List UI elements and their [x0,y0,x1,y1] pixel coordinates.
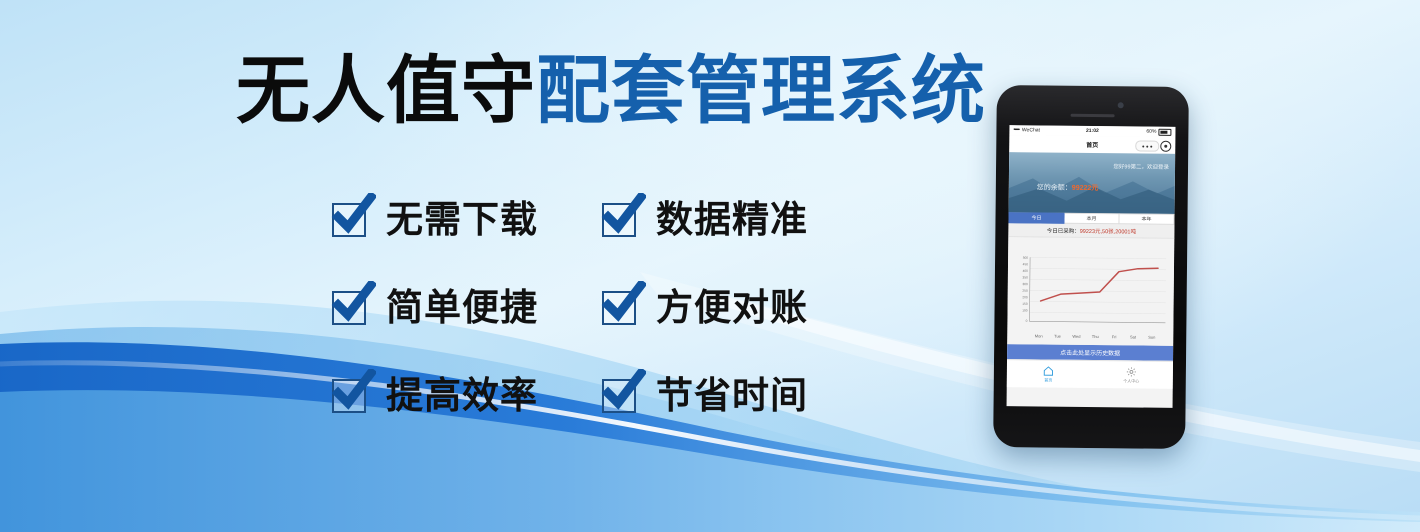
feature-row: 简单便捷 方便对账 [330,264,870,352]
x-tick: Fri [1105,334,1124,339]
welcome-text: 您好99第二，欢迎登录 [1113,162,1169,171]
account-banner: 您好99第二，欢迎登录 您的余额：99222元 [1009,152,1176,214]
x-tick: Mon [1029,333,1048,338]
tabbar-label: 首页 [1044,377,1052,383]
feature-row: 无需下载 数据精准 [330,176,870,264]
svg-text:200: 200 [1022,295,1028,299]
feature-label: 简单便捷 [386,287,538,329]
check-mark-icon [330,287,372,329]
feature-row: 提高效率 节省时间 [330,352,870,440]
bottom-tab-bar: 首页 个人中心 [1007,359,1173,389]
line-chart: 500 450 400 350 300 250 200 150 100 0 [1007,251,1174,335]
feature-item: 方便对账 [600,287,870,329]
svg-text:400: 400 [1023,269,1029,273]
svg-text:300: 300 [1022,282,1028,286]
gear-icon [1126,366,1137,377]
nav-title: 首页 [1086,140,1098,149]
tabbar-label: 个人中心 [1123,378,1139,384]
tab-year[interactable]: 本年 [1119,213,1174,225]
summary-value: 99223元,50张,20001吨 [1080,226,1136,235]
check-mark-icon [600,199,642,241]
signal-icon: ••••• [1013,127,1019,133]
period-tabs: 今日 本月 本年 [1008,212,1174,225]
phone-mockup: ••••• WeChat 21:02 60% 首页 您好99第二，欢迎登录 [993,85,1189,449]
tabbar-item-profile[interactable]: 个人中心 [1090,361,1173,389]
feature-label: 提高效率 [386,375,538,417]
svg-text:100: 100 [1022,308,1028,312]
home-icon [1043,365,1054,376]
battery-percent-label: 60% [1146,129,1156,135]
tab-month[interactable]: 本月 [1064,213,1119,225]
svg-text:250: 250 [1022,289,1028,293]
title-primary: 无人值守 [236,49,536,132]
tab-today[interactable]: 今日 [1008,212,1064,224]
feature-item: 数据精准 [600,199,870,241]
title-accent: 配套管理系统 [536,49,986,132]
feature-label: 数据精准 [656,199,808,241]
more-dots-icon[interactable] [1135,140,1159,151]
earpiece-speaker [1071,114,1115,117]
svg-text:150: 150 [1022,302,1028,306]
feature-item: 简单便捷 [330,287,600,329]
svg-text:350: 350 [1023,275,1029,279]
balance-value: 99222元 [1072,185,1099,192]
x-tick: Tue [1048,334,1067,339]
tabbar-item-home[interactable]: 首页 [1007,360,1090,388]
x-tick: Sun [1142,335,1161,340]
nav-bar: 首页 [1009,135,1175,154]
feature-label: 无需下载 [386,199,538,241]
phone-screen: ••••• WeChat 21:02 60% 首页 您好99第二，欢迎登录 [1007,125,1176,408]
x-tick: Wed [1067,334,1086,339]
feature-label: 方便对账 [656,287,808,329]
svg-text:500: 500 [1023,256,1029,260]
x-tick: Thu [1086,334,1105,339]
check-mark-icon [600,287,642,329]
chart-x-labels: Mon Tue Wed Thu Fri Sat Sun [1007,333,1173,340]
balance-label: 您的余额： [1037,184,1072,191]
clock-label: 21:02 [1086,128,1099,134]
front-camera-icon [1118,102,1124,108]
feature-item: 无需下载 [330,199,600,241]
check-mark-icon [330,199,372,241]
chart-area: 500 450 400 350 300 250 200 150 100 0 Mo… [1007,237,1174,346]
feature-item: 提高效率 [330,375,600,417]
summary-prefix: 今日已采购： [1047,226,1080,234]
x-tick: Sat [1124,334,1143,339]
svg-text:450: 450 [1023,262,1029,266]
battery-icon [1158,128,1171,135]
balance-row: 您的余额：99222元 [1037,182,1099,193]
target-circle-icon[interactable] [1160,141,1171,152]
page-title: 无人值守配套管理系统 [236,48,946,134]
check-mark-icon [330,375,372,417]
history-data-button[interactable]: 点击此处显示历史数据 [1007,344,1173,361]
carrier-label: WeChat [1022,127,1040,133]
feature-item: 节省时间 [600,375,870,417]
check-mark-icon [600,375,642,417]
banner-stage: 无人值守配套管理系统 无需下载 数据精准 [0,0,1420,532]
feature-list: 无需下载 数据精准 简单便捷 [330,176,870,440]
feature-label: 节省时间 [656,375,808,417]
svg-text:0: 0 [1026,319,1028,323]
